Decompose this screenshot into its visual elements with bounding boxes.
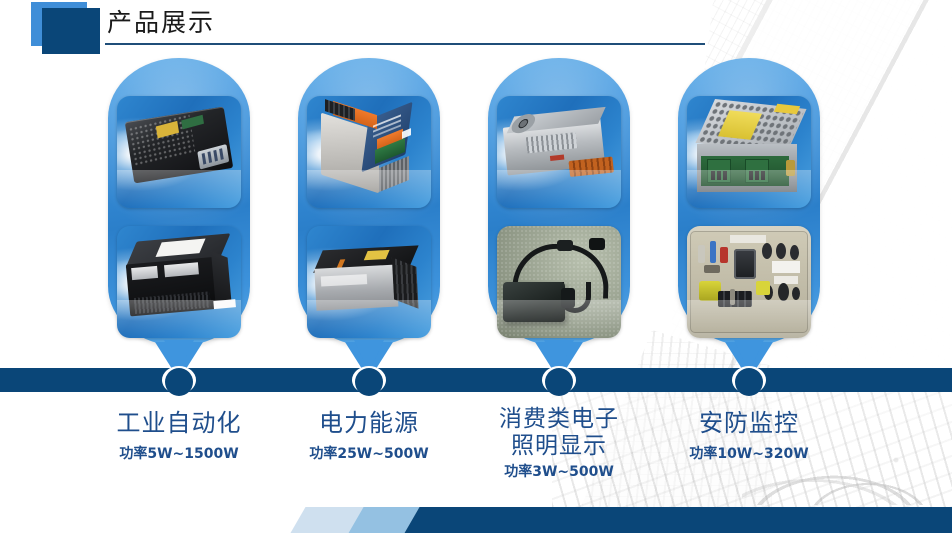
psu-illustration [124, 234, 234, 319]
psu-illustration [315, 104, 423, 196]
product-card-security-surveillance[interactable] [678, 58, 820, 346]
pin-security-surveillance[interactable] [735, 368, 763, 396]
category-label-security-surveillance: 安防监控 功率10W~320W [629, 408, 869, 463]
product-photo-high-power-black-switching-power-supply [117, 226, 241, 338]
category-power-range: 功率3W~500W [439, 461, 679, 481]
product-photo-silver-fan-cooled-power-supply [497, 96, 621, 208]
title-accent-square-dark [42, 8, 100, 54]
product-photo-black-silver-enclosed-power-supply [307, 226, 431, 338]
psu-illustration [502, 107, 617, 188]
bottom-bar-segment-dark [404, 507, 952, 533]
title-underline [105, 43, 705, 45]
timeline-band [0, 368, 952, 392]
psu-illustration [313, 245, 424, 315]
product-photo-perforated-case-power-supply-yellow-label [687, 96, 811, 208]
product-card-consumer-electronics-lighting-display[interactable] [488, 58, 630, 346]
product-photo-open-frame-pcb-power-board [687, 226, 811, 338]
product-card-industrial-automation[interactable] [108, 58, 250, 346]
slide-canvas: 产品展示 [0, 0, 952, 533]
category-name: 安防监控 [629, 408, 869, 438]
product-photo-din-rail-power-supply [307, 96, 431, 208]
pin-industrial-automation[interactable] [165, 368, 193, 396]
product-card-power-energy[interactable] [298, 58, 440, 346]
page-title: 产品展示 [107, 4, 215, 42]
category-power-range: 功率10W~320W [629, 443, 869, 463]
psu-illustration [693, 104, 805, 200]
pin-consumer-electronics[interactable] [545, 368, 573, 396]
product-photo-black-perforated-enclosed-power-supply [117, 96, 241, 208]
product-photo-black-adapter-brick-with-cable [497, 226, 621, 338]
pin-power-energy[interactable] [355, 368, 383, 396]
